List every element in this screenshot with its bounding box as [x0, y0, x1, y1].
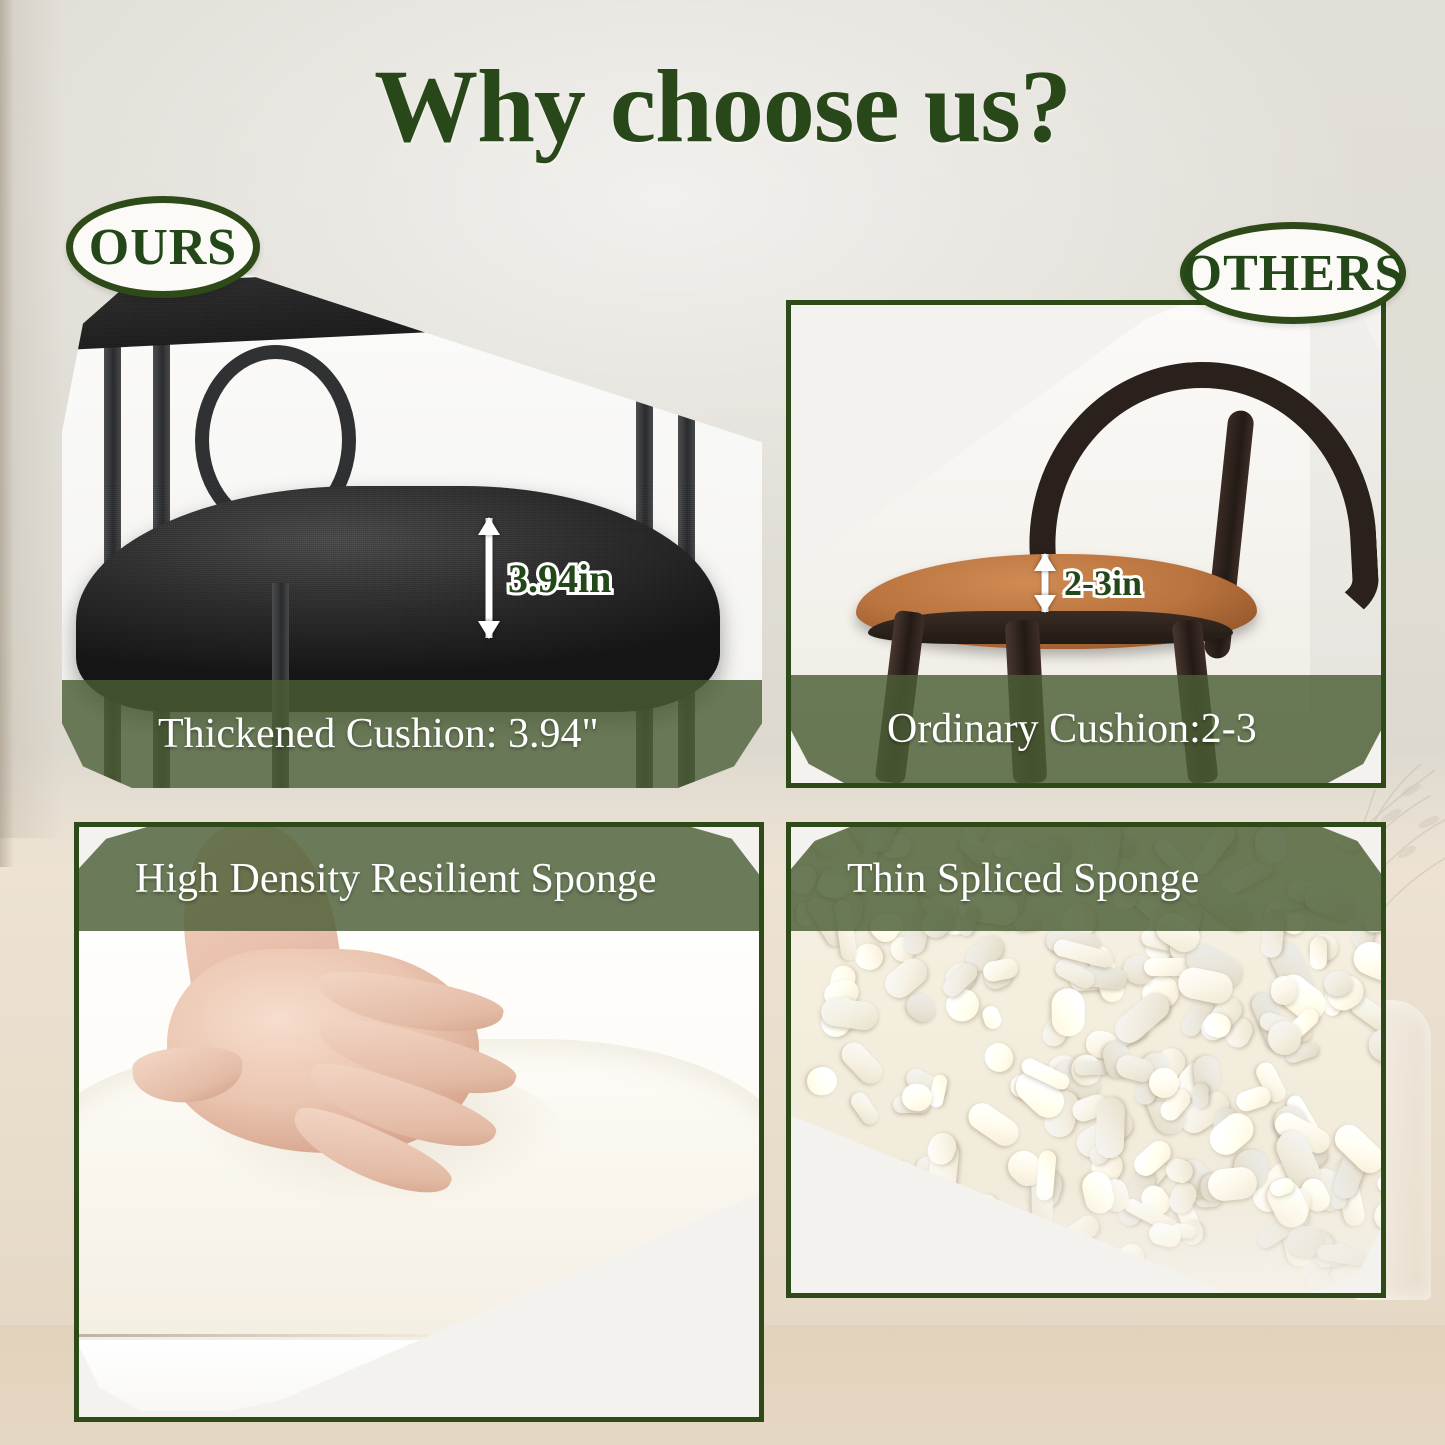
sponge-chip — [1192, 1083, 1208, 1108]
panel-others-sponge-caption-text: Thin Spliced Sponge — [847, 858, 1199, 900]
sponge-chip — [806, 1065, 839, 1096]
sponge-chip — [817, 1216, 849, 1275]
sponge-chip — [963, 1098, 1024, 1151]
sponge-chip — [882, 1229, 937, 1280]
double-arrow-icon — [478, 518, 500, 638]
measurement-ours-cushion: 3.94in — [478, 518, 611, 638]
page-title: Why choose us? — [0, 52, 1445, 162]
sponge-chip — [847, 1089, 881, 1128]
sponge-chip — [907, 1220, 940, 1252]
badge-others-label: OTHERS — [1182, 244, 1405, 303]
chair-seat-cushion — [76, 486, 720, 713]
panel-others-clip: Ordinary Cushion:2-3 — [791, 305, 1381, 783]
sponge-chip — [887, 1189, 923, 1225]
chips-floor-blur — [791, 1181, 1381, 1293]
sponge-chip — [1365, 827, 1381, 848]
panel-ours-sponge-caption: High Density Resilient Sponge — [79, 827, 759, 931]
sponge-chip — [1309, 937, 1326, 970]
panel-others-sponge-clip: Thin Spliced Sponge — [791, 827, 1381, 1293]
foam-seam — [79, 1334, 460, 1337]
sponge-chip — [920, 1204, 964, 1250]
sponge-chip — [1051, 988, 1085, 1037]
panel-others-sponge-caption: Thin Spliced Sponge — [791, 827, 1381, 931]
sponge-chip — [835, 1252, 872, 1292]
sponge-chip — [1364, 1024, 1381, 1074]
sponge-chip — [1071, 1243, 1101, 1277]
panel-ours-cushion: Thickened Cushion: 3.94" — [62, 248, 762, 788]
sponge-chip — [836, 1037, 887, 1088]
sponge-chip — [791, 1168, 835, 1204]
measurement-others-cushion: 2-3in — [1034, 554, 1142, 612]
sponge-chip — [923, 1190, 976, 1239]
panel-ours-caption-text: Thickened Cushion: 3.94" — [158, 713, 599, 755]
panel-others-sponge: Thin Spliced Sponge — [786, 822, 1386, 1298]
sponge-chip — [820, 1141, 867, 1188]
sponge-chip — [1049, 1232, 1095, 1278]
measurement-ours-label: 3.94in — [508, 555, 611, 602]
panel-others-cushion: Ordinary Cushion:2-3 — [786, 300, 1386, 788]
foam-base — [79, 1340, 501, 1417]
badge-ours-label: OURS — [89, 218, 237, 277]
panel-others-caption: Ordinary Cushion:2-3 — [791, 675, 1381, 783]
sponge-chip — [900, 1221, 937, 1257]
sponge-chip — [1097, 1258, 1162, 1293]
badge-ours: OURS — [66, 196, 260, 298]
sponge-chip — [814, 1260, 845, 1286]
panel-ours-sponge-clip: High Density Resilient Sponge — [79, 827, 759, 1417]
panel-ours-sponge: High Density Resilient Sponge — [74, 822, 764, 1422]
sponge-chip — [875, 1235, 927, 1277]
sponge-chip — [853, 941, 885, 972]
panel-ours-clip: Thickened Cushion: 3.94" — [62, 248, 762, 788]
panel-others-caption-text: Ordinary Cushion:2-3 — [887, 708, 1257, 750]
panel-ours-caption: Thickened Cushion: 3.94" — [62, 680, 762, 788]
sponge-chip — [956, 1192, 1000, 1252]
sponge-chip — [1025, 1241, 1049, 1293]
sponge-chip — [793, 1182, 838, 1247]
sponge-chip — [887, 1261, 924, 1293]
sponge-chip — [980, 1004, 1004, 1032]
double-arrow-icon — [1034, 554, 1056, 612]
badge-others: OTHERS — [1180, 222, 1406, 324]
sponge-chip — [979, 1037, 1019, 1077]
sponge-chip — [1233, 1084, 1272, 1113]
measurement-others-label: 2-3in — [1064, 562, 1142, 604]
panel-ours-sponge-caption-text: High Density Resilient Sponge — [135, 858, 656, 900]
infographic-canvas: Why choose us? Thickened Cushion: 3.94" — [0, 0, 1445, 1445]
sponge-chip — [924, 1219, 962, 1258]
sponge-chip — [1096, 1097, 1125, 1158]
sponge-chip — [1110, 1257, 1147, 1283]
